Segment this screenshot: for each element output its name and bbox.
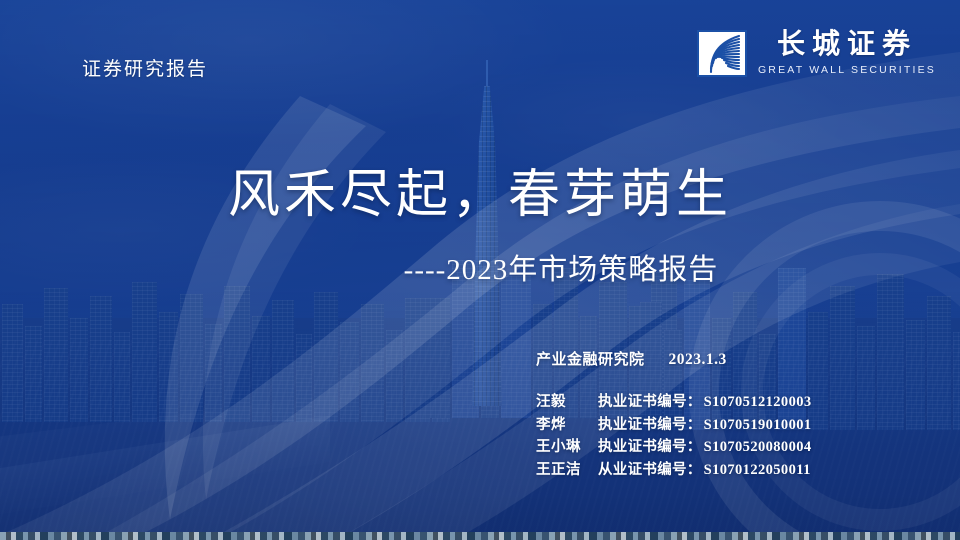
company-logo: 长城证券 GREAT WALL SECURITIES — [697, 30, 936, 77]
credential-label: 执业证书编号： — [598, 415, 702, 436]
credential-code: S1070512120003 — [704, 392, 812, 413]
analyst-row: 王正洁 从业证书编号： S1070122050011 — [536, 460, 812, 481]
analyst-name: 王小琳 — [536, 437, 598, 458]
report-cover-slide: 证券研究报告 长城证券 — [0, 0, 960, 540]
analyst-name: 汪毅 — [536, 392, 598, 413]
credential-label: 执业证书编号： — [598, 437, 702, 458]
arc-stripes-icon — [699, 32, 745, 75]
logo-name-cn: 长城证券 — [777, 31, 917, 59]
page-title: 风禾尽起，春芽萌生 — [0, 152, 960, 227]
report-kicker: 证券研究报告 — [82, 54, 208, 81]
credential-label: 从业证书编号： — [598, 460, 702, 481]
credential-code: S1070122050011 — [704, 460, 811, 481]
analyst-list: 汪毅 执业证书编号： S1070512120003 李烨 执业证书编号： S10… — [536, 392, 812, 480]
analyst-row: 汪毅 执业证书编号： S1070512120003 — [536, 392, 812, 413]
credential-code: S1070520080004 — [704, 437, 812, 458]
credential-code: S1070519010001 — [704, 415, 812, 436]
department-line: 产业金融研究院 2023.1.3 — [536, 348, 812, 369]
credential-label: 执业证书编号： — [598, 392, 702, 413]
department-name: 产业金融研究院 — [536, 348, 645, 369]
logo-name-en: GREAT WALL SECURITIES — [758, 65, 936, 76]
logo-wordmark: 长城证券 GREAT WALL SECURITIES — [758, 31, 936, 76]
analyst-name: 李烨 — [536, 415, 598, 436]
great-wall-arc-icon — [697, 30, 747, 77]
page-subtitle: ----2023年市场策略报告 — [0, 246, 960, 288]
byline-block: 产业金融研究院 2023.1.3 汪毅 执业证书编号： S10705121200… — [536, 348, 812, 480]
analyst-name: 王正洁 — [536, 460, 598, 481]
report-date: 2023.1.3 — [669, 351, 727, 369]
bottom-photo-strip — [0, 532, 960, 540]
analyst-row: 王小琳 执业证书编号： S1070520080004 — [536, 437, 812, 458]
analyst-row: 李烨 执业证书编号： S1070519010001 — [536, 415, 812, 436]
